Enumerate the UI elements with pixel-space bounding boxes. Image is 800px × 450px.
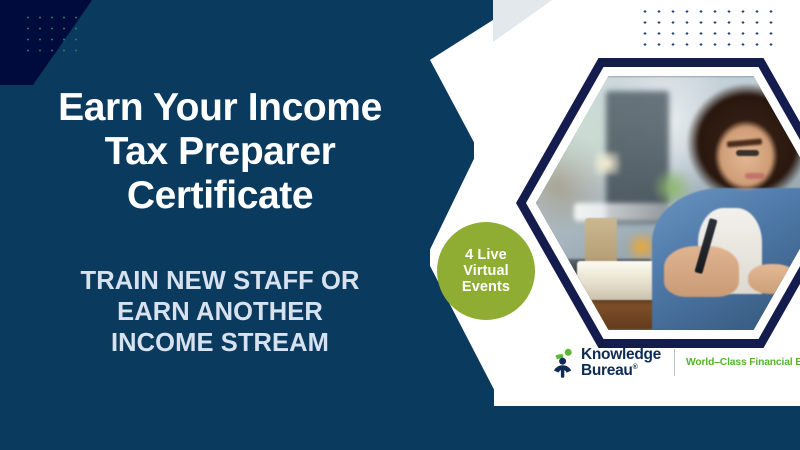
badge-line-1: 4 Live [465,247,507,263]
corner-dot-grid-icon [22,12,82,54]
brand-lockup: Knowledge Bureau® World–Class Financial … [550,347,800,378]
copy-block: Earn Your Income Tax Preparer Certificat… [0,86,430,360]
badge-line-3: Events [462,279,510,295]
subheading-line-1: TRAIN NEW STAFF OR [81,267,360,295]
subheading-line-2: EARN ANOTHER [117,298,323,326]
dot-grid-icon [638,6,778,54]
hexagon-photo-frame [516,58,800,348]
headline-line-2: Tax Preparer [105,130,336,173]
headline-line-1: Earn Your Income [58,86,382,129]
subheading: TRAIN NEW STAFF OR EARN ANOTHER INCOME S… [10,266,430,359]
live-events-badge: 4 Live Virtual Events [437,222,535,320]
photo-eye [736,150,759,157]
knowledge-bureau-figure-icon [550,348,576,378]
headline: Earn Your Income Tax Preparer Certificat… [10,86,430,218]
subheading-line-3: INCOME STREAM [111,329,329,357]
registered-trademark-icon: ® [633,363,638,370]
headline-line-3: Certificate [127,174,313,217]
promo-banner: 4 Live Virtual Events Earn Your Income T… [0,0,800,450]
brand-name: Knowledge Bureau® [581,347,661,378]
brand-tagline: World–Class Financial Education [686,357,800,368]
photo-lamp [594,152,620,175]
badge-line-2: Virtual [463,263,509,279]
brand-name-line-1: Knowledge [581,346,661,363]
logo-divider [674,349,675,376]
brand-name-line-2: Bureau [581,362,633,379]
photo-lips [745,173,765,179]
live-events-badge-text: 4 Live Virtual Events [462,247,510,296]
